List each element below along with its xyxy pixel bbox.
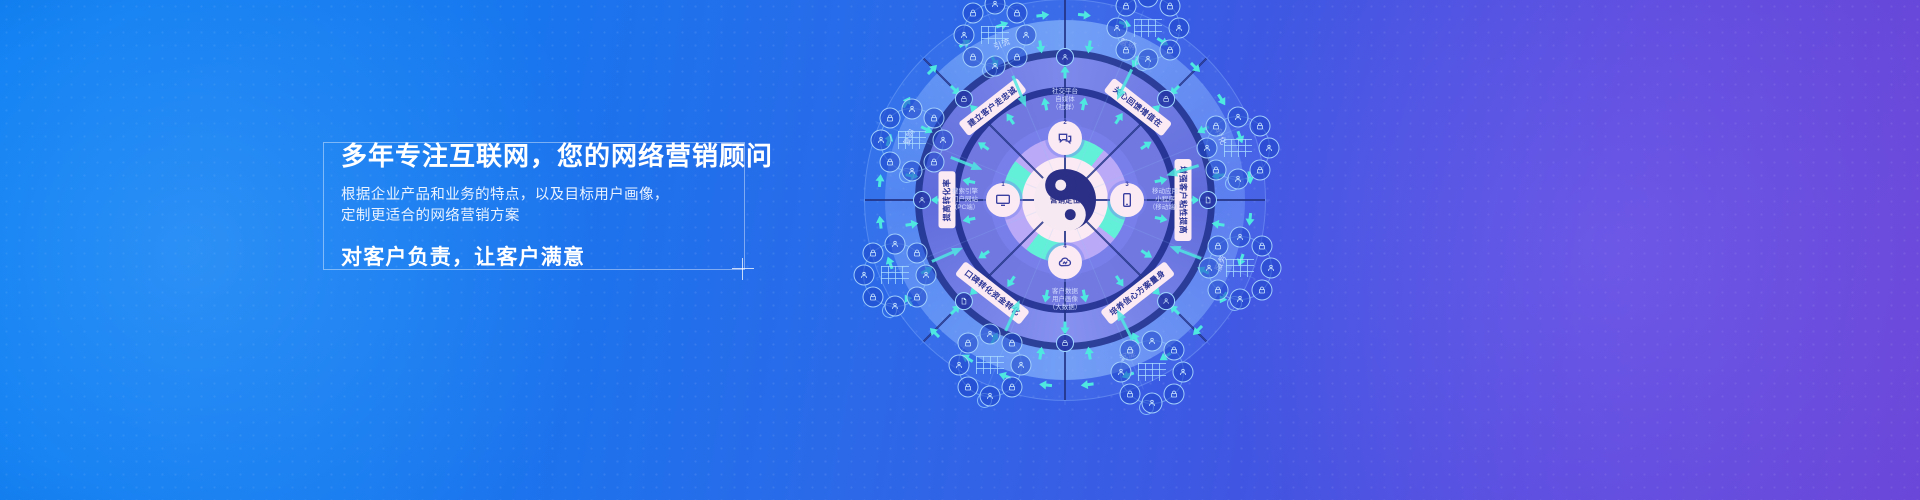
user-icon [1138, 49, 1159, 70]
quadrant-caption: 社交平台 自媒体 （社群） [1052, 88, 1078, 112]
quadrant-chat-icon: 2 [1048, 121, 1082, 155]
satellite-grid-icon [976, 356, 1004, 374]
hero-subtitle-line-1: 根据企业产品和业务的特点，以及目标用户画像， [341, 185, 761, 206]
user-icon [1169, 18, 1190, 39]
user-icon [985, 56, 1006, 77]
user-icon [1142, 393, 1163, 414]
user-icon [1016, 25, 1037, 46]
hero-banner: 多年专注互联网，您的网络营销顾问 根据企业产品和业务的特点，以及目标用户画像， … [0, 0, 1920, 500]
user-icon [980, 386, 1001, 407]
satellite-grid-icon [881, 266, 909, 284]
user-icon [1173, 362, 1194, 383]
lock-icon [963, 3, 984, 24]
satellite-grid-icon [1138, 363, 1166, 381]
quadrant-cloud-data-icon: 4 [1048, 245, 1082, 279]
satellite-cluster [949, 0, 1041, 81]
user-icon [1230, 227, 1251, 248]
lock-icon [1251, 236, 1272, 257]
hero-tagline: 对客户负责，让客户满意 [341, 241, 761, 271]
quadrant-number: 4 [1063, 244, 1066, 250]
hero-subtitle-line-2: 定制更适合的网络营销方案 [341, 206, 761, 227]
satellite-grid-icon [981, 26, 1009, 44]
flow-arrow-radial [1061, 322, 1070, 335]
satellite-cluster [1192, 102, 1284, 194]
satellite-cluster [866, 94, 958, 186]
lock-icon [1120, 340, 1141, 361]
quadrant-caption: 客户数据 用户画像 （大数据） [1049, 288, 1082, 312]
quadrant-monitor-icon: 1 [986, 183, 1020, 217]
lock-icon [1251, 279, 1272, 300]
lock-icon [880, 108, 901, 129]
plus-crosshair-icon [732, 258, 754, 280]
user-icon [1228, 107, 1249, 128]
quadrant-number: 1 [1001, 182, 1004, 188]
lock-icon [963, 46, 984, 67]
hero-copy-box: 多年专注互联网，您的网络营销顾问 根据企业产品和业务的特点，以及目标用户画像， … [323, 142, 745, 270]
satellite-grid-icon [1134, 19, 1162, 37]
user-icon [949, 355, 970, 376]
user-icon [885, 234, 906, 255]
lock-icon [1249, 159, 1270, 180]
user-icon [916, 265, 937, 286]
lock-icon [863, 243, 884, 264]
user-icon [885, 296, 906, 317]
lock-icon [1001, 333, 1022, 354]
satellite-cluster [944, 319, 1036, 411]
user-icon [1142, 331, 1163, 352]
lock-icon [1001, 376, 1022, 397]
lock-icon [1163, 383, 1184, 404]
satellite-grid-icon [1226, 259, 1254, 277]
wheel-center-label: 营销定位 [1050, 195, 1080, 206]
satellite-cluster [1106, 326, 1198, 418]
lock-icon [880, 151, 901, 172]
satellite-cluster [1194, 222, 1286, 314]
lock-icon [1120, 383, 1141, 404]
page-title: 多年专注互联网，您的网络营销顾问 [341, 139, 761, 173]
lock-icon [1249, 116, 1270, 137]
user-icon [1056, 48, 1074, 66]
user-icon [954, 25, 975, 46]
lock-icon [1006, 3, 1027, 24]
quadrant-number: 3 [1125, 182, 1128, 188]
user-icon [902, 161, 923, 182]
user-icon [1107, 18, 1128, 39]
user-icon [1259, 138, 1280, 159]
user-icon [933, 130, 954, 151]
lock-icon [906, 286, 927, 307]
lock-icon [1116, 39, 1137, 60]
user-icon [980, 324, 1001, 345]
user-icon [902, 99, 923, 120]
user-icon [854, 265, 875, 286]
flow-arrow-outer [1078, 10, 1092, 20]
document-icon [955, 292, 973, 310]
flow-arrow-outer [875, 215, 885, 229]
flow-arrow-outer [1039, 380, 1053, 390]
quadrant-caption: 移动应用 小程序 （移动端） [1149, 188, 1182, 212]
lock-icon [958, 333, 979, 354]
lock-icon [1157, 90, 1175, 108]
user-icon [1111, 362, 1132, 383]
lock-icon [1206, 159, 1227, 180]
quadrant-number: 2 [1063, 120, 1066, 126]
lock-icon [923, 151, 944, 172]
lock-icon [1006, 46, 1027, 67]
satellite-cluster [1102, 0, 1194, 74]
lock-icon [1163, 340, 1184, 361]
user-icon [1261, 258, 1282, 279]
lock-icon [863, 286, 884, 307]
satellite-grid-icon [898, 131, 926, 149]
lock-icon [1159, 39, 1180, 60]
user-icon [1157, 292, 1175, 310]
lock-icon [1208, 236, 1229, 257]
user-icon [1230, 289, 1251, 310]
flow-arrow-radial [1061, 66, 1070, 79]
satellite-grid-icon [1224, 139, 1252, 157]
user-icon [913, 191, 931, 209]
lock-icon [906, 243, 927, 264]
quadrant-mobile-icon: 3 [1110, 183, 1144, 217]
lock-icon [958, 376, 979, 397]
user-icon [1199, 258, 1220, 279]
user-icon [1197, 138, 1218, 159]
user-icon [871, 130, 892, 151]
satellite-cluster [849, 229, 941, 321]
lock-icon [1206, 116, 1227, 137]
user-icon [1011, 355, 1032, 376]
quadrant-caption: 搜索引擎 门户网站 （PC端） [951, 188, 980, 212]
lock-icon [1056, 334, 1074, 352]
lock-icon [923, 108, 944, 129]
flow-arrow-mid [1084, 346, 1095, 360]
hero-subtitle: 根据企业产品和业务的特点，以及目标用户画像， 定制更适合的网络营销方案 [341, 185, 761, 227]
user-icon [1228, 169, 1249, 190]
lock-icon [1208, 279, 1229, 300]
flow-arrow-outer [1080, 379, 1094, 389]
